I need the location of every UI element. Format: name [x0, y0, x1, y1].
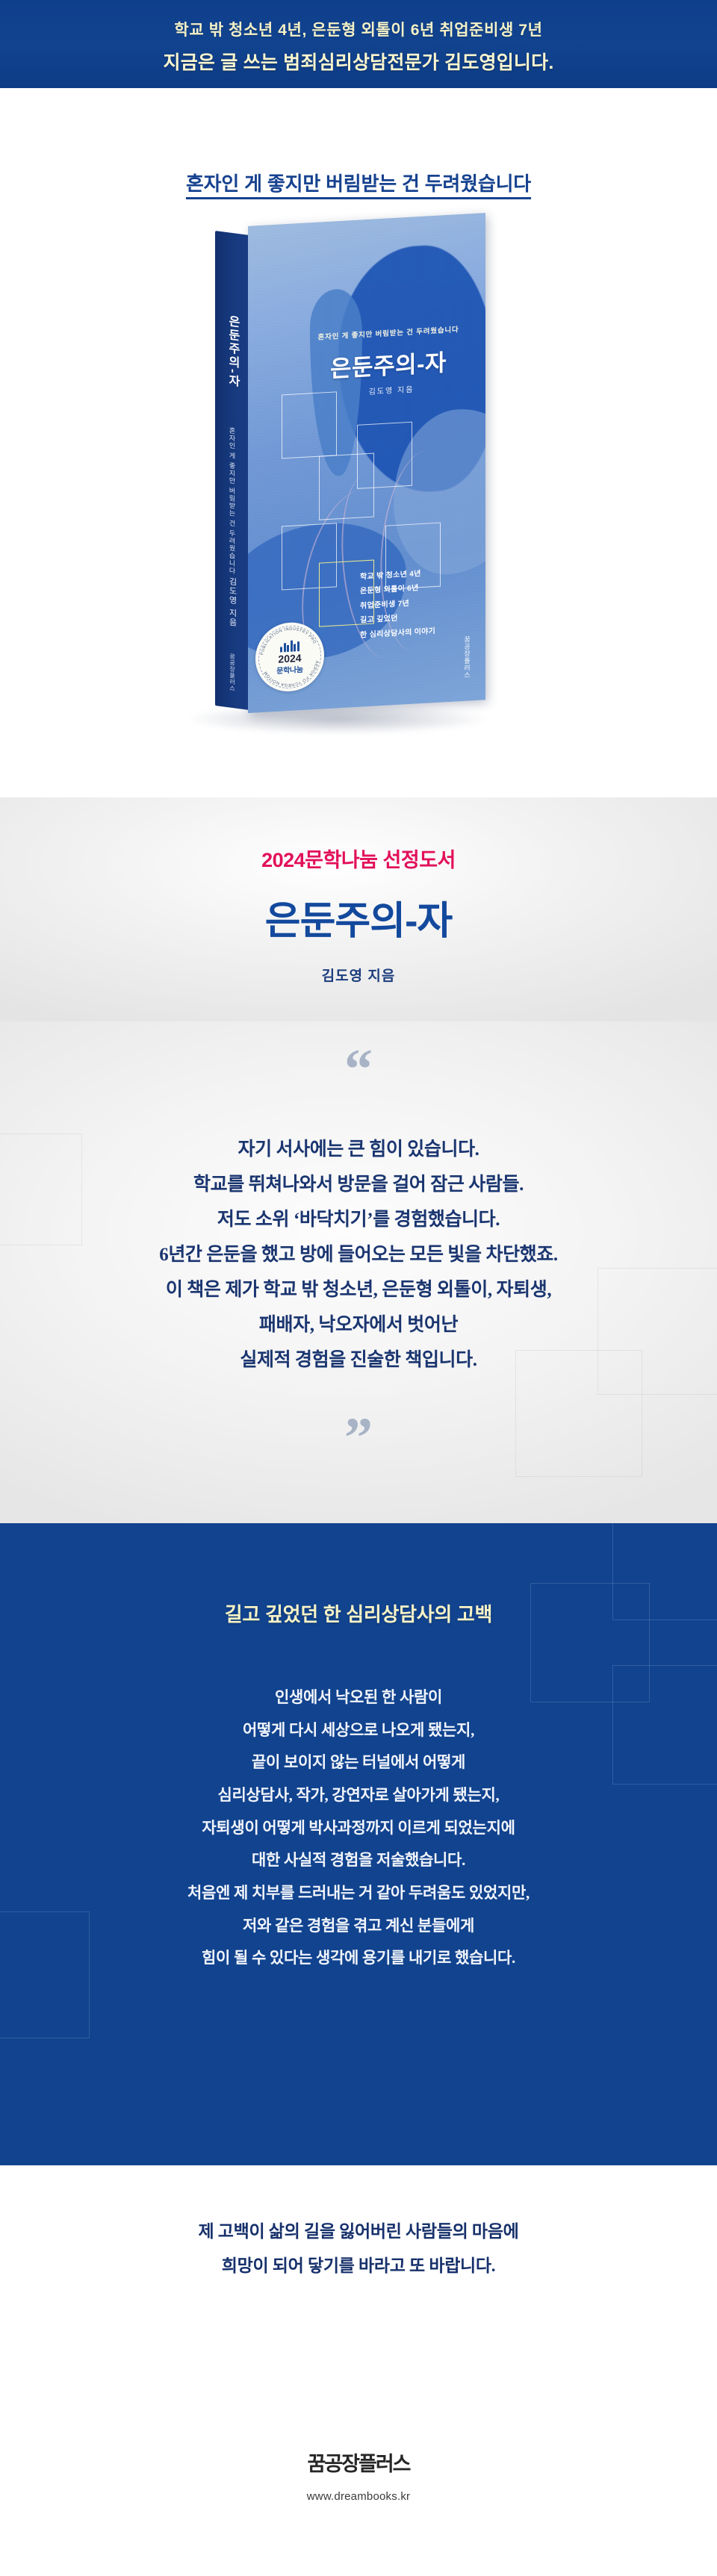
quote-line: 패배자, 낙오자에서 벗어난: [0, 1307, 717, 1343]
page-title: 은둔주의-자: [0, 889, 717, 945]
header-line-1: 학교 밖 청소년 4년, 은둔형 외톨이 6년 취업준비생 7년: [174, 18, 542, 40]
quote-line: 실제적 경험을 진술한 책입니다.: [0, 1343, 717, 1378]
navy-line: 자퇴생이 어떻게 박사과정까지 이르게 되었는지에: [0, 1812, 717, 1845]
closing-line: 제 고백이 삶의 길을 잃어버린 사람들의 마음에: [0, 2215, 717, 2249]
book-shadow: [188, 704, 487, 734]
quote-open-mark-icon: “: [0, 1041, 717, 1098]
navy-line: 처음엔 제 치부를 드러내는 거 같아 두려움도 있었지만,: [0, 1877, 717, 1910]
cover-rect-3: [357, 422, 412, 489]
header-band: 학교 밖 청소년 4년, 은둔형 외톨이 6년 취업준비생 7년 지금은 글 쓰…: [0, 0, 717, 88]
footer: 꿈공장플러스 www.dreambooks.kr: [0, 2412, 717, 2576]
svg-text:PUBLICATION INDUSTRY PRO: PUBLICATION INDUSTRY PRO: [260, 626, 317, 656]
svg-text:AEROK FO YCNEGA NOITOM: AEROK FO YCNEGA NOITOM: [264, 660, 320, 688]
quote-line: 6년간 은둔을 했고 방에 들어오는 모든 빛을 차단했죠.: [0, 1237, 717, 1272]
navy-line: 저와 같은 경험을 겪고 계신 분들에게: [0, 1910, 717, 1943]
hero-heading: 혼자인 게 좋지만 버림받는 건 두려웠습니다: [0, 169, 717, 196]
closing-body: 제 고백이 삶의 길을 잃어버린 사람들의 마음에 희망이 되어 닿기를 바라고…: [0, 2215, 717, 2283]
quote-body: 자기 서사에는 큰 힘이 있습니다. 학교를 뛰쳐나와서 방문을 걸어 잠근 사…: [0, 1132, 717, 1378]
navy-line: 대한 사실적 경험을 저술했습니다.: [0, 1844, 717, 1877]
quote-line: 이 책은 제가 학교 밖 청소년, 은둔형 외톨이, 자퇴생,: [0, 1272, 717, 1307]
cover-highlight-list: 학교 밖 청소년 4년 은둔형 외톨이 6년 취업준비생 7년 길고 깊었던 한…: [360, 564, 472, 643]
page-author: 김도영 지음: [0, 965, 717, 985]
hero-section: 혼자인 게 좋지만 버림받는 건 두려웠습니다 은둔주의-자 혼자인 게 좋지만…: [0, 88, 717, 797]
quote-close-mark-icon: ”: [0, 1410, 717, 1466]
closing-line: 희망이 되어 닿기를 바라고 또 바랍니다.: [0, 2249, 717, 2283]
navy-heading: 길고 깊었던 한 심리상담사의 고백: [0, 1599, 717, 1627]
quote-section: “ 자기 서사에는 큰 힘이 있습니다. 학교를 뛰쳐나와서 방문을 걸어 잠근…: [0, 1021, 717, 1523]
quote-line: 자기 서사에는 큰 힘이 있습니다.: [0, 1132, 717, 1167]
book-spine: 은둔주의-자 혼자인 게 좋지만 버림받는 건 두려웠습니다 김도영 지음 꿈공…: [215, 231, 249, 710]
book-spine-title: 은둔주의-자: [223, 314, 241, 388]
navy-line: 인생에서 낙오된 한 사람이: [0, 1681, 717, 1714]
book-spine-author: 김도영 지음: [226, 576, 238, 628]
navy-line: 끝이 보이지 않는 터널에서 어떻게: [0, 1746, 717, 1779]
book-mockup: 은둔주의-자 혼자인 게 좋지만 버림받는 건 두려웠습니다 김도영 지음 꿈공…: [143, 226, 532, 749]
book-spine-subtitle: 혼자인 게 좋지만 버림받는 건 두려웠습니다: [228, 426, 238, 575]
title-block: 2024문학나눔 선정도서 은둔주의-자 김도영 지음: [0, 797, 717, 1021]
publisher-url[interactable]: www.dreambooks.kr: [307, 2490, 410, 2503]
header-line-2: 지금은 글 쓰는 범죄심리상담전문가 김도영입니다.: [164, 48, 554, 75]
navy-line: 어떻게 다시 세상으로 나오게 됐는지,: [0, 1714, 717, 1747]
quote-line: 저도 소위 ‘바닥치기’를 경험했습니다.: [0, 1202, 717, 1237]
publisher-logo: 꿈공장플러스: [307, 2448, 409, 2477]
cover-publisher: 꿈공장플러스: [462, 635, 472, 679]
cover-rect-1: [282, 392, 337, 459]
navy-body: 인생에서 낙오된 한 사람이 어떻게 다시 세상으로 나오게 됐는지, 끝이 보…: [0, 1681, 717, 1975]
navy-section: 길고 깊었던 한 심리상담사의 고백 인생에서 낙오된 한 사람이 어떻게 다시…: [0, 1523, 717, 2165]
quote-line: 학교를 뛰쳐나와서 방문을 걸어 잠근 사람들.: [0, 1167, 717, 1202]
book-spine-publisher: 꿈공장플러스: [229, 653, 237, 691]
award-seal-badge: PUBLICATION INDUSTRY PRO AEROK FO YCNEGA…: [255, 620, 324, 693]
seal-arc-text-wrap: PUBLICATION INDUSTRY PRO AEROK FO YCNEGA…: [255, 620, 324, 693]
closing-section: 제 고백이 삶의 길을 잃어버린 사람들의 마음에 희망이 되어 닿기를 바라고…: [0, 2165, 717, 2412]
navy-line: 힘이 될 수 있다는 생각에 용기를 내기로 했습니다.: [0, 1942, 717, 1975]
book-front-cover: 혼자인 게 좋지만 버림받는 건 두려웠습니다 은둔주의-자 김도영 지음 학교…: [248, 213, 485, 713]
navy-line: 심리상담사, 작가, 강연자로 살아가게 됐는지,: [0, 1779, 717, 1812]
selection-badge: 2024문학나눔 선정도서: [0, 797, 717, 873]
